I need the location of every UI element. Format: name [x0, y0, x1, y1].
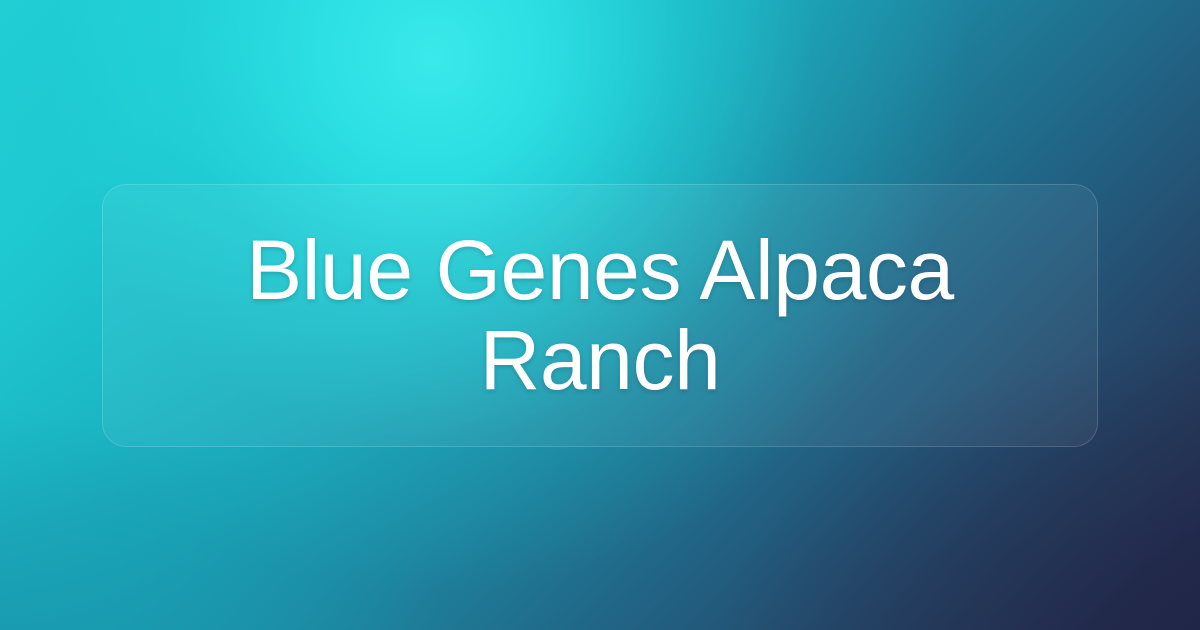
hero-banner: Blue Genes Alpaca Ranch	[0, 0, 1200, 630]
title-card: Blue Genes Alpaca Ranch	[102, 184, 1098, 447]
page-title: Blue Genes Alpaca Ranch	[149, 225, 1051, 406]
